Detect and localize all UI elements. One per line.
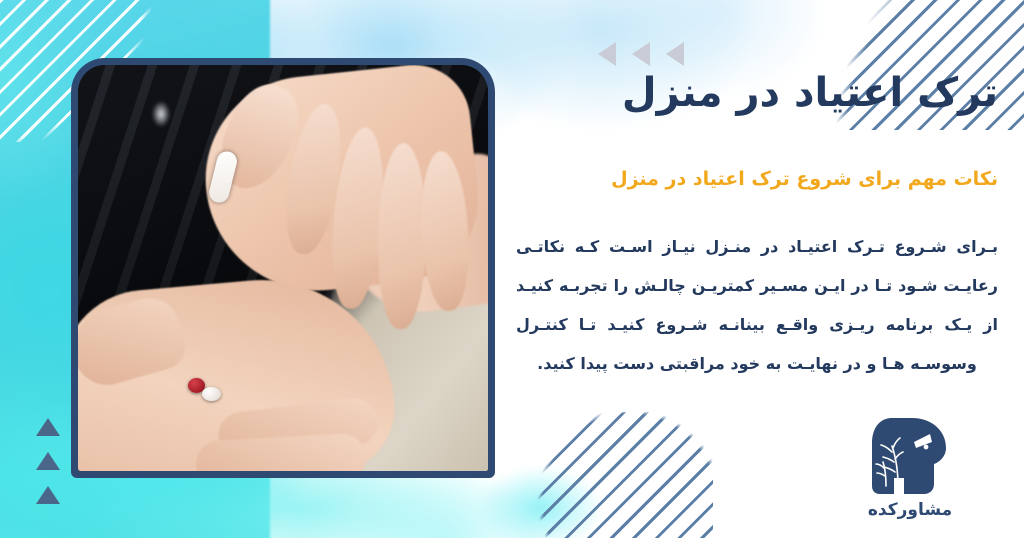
- photo-frame: [71, 58, 495, 478]
- logo-text: مشاورکده: [844, 500, 976, 520]
- triangle-up-icon: [36, 418, 60, 436]
- bokeh-highlight: [152, 101, 170, 127]
- arrow-accent-group: [598, 42, 684, 66]
- triangle-accent-group: [26, 418, 60, 520]
- banner-root: ترک اعتیاد در منزل نکات مهم برای شروع تر…: [0, 0, 1024, 538]
- page-subtitle: نکات مهم برای شروع ترک اعتیاد در منزل: [516, 166, 998, 193]
- photo-hands-with-pills: [78, 65, 488, 471]
- triangle-up-icon: [36, 486, 60, 504]
- body-paragraph: بـرای شـروع تـرک اعتیـاد در منـزل نیـاز …: [516, 227, 998, 384]
- watercolor-wash-speck: [470, 428, 670, 538]
- diagonal-stripes-bottom-icon: [528, 412, 713, 538]
- chevron-left-icon: [666, 42, 684, 66]
- head-with-plant-logo-icon: [868, 412, 952, 498]
- chevron-left-icon: [632, 42, 650, 66]
- triangle-up-icon: [36, 452, 60, 470]
- brand-logo: مشاورکده: [844, 412, 976, 520]
- chevron-left-icon: [598, 42, 616, 66]
- text-column: ترک اعتیاد در منزل نکات مهم برای شروع تر…: [516, 68, 998, 383]
- white-pill: [202, 387, 221, 401]
- page-title: ترک اعتیاد در منزل: [516, 68, 998, 118]
